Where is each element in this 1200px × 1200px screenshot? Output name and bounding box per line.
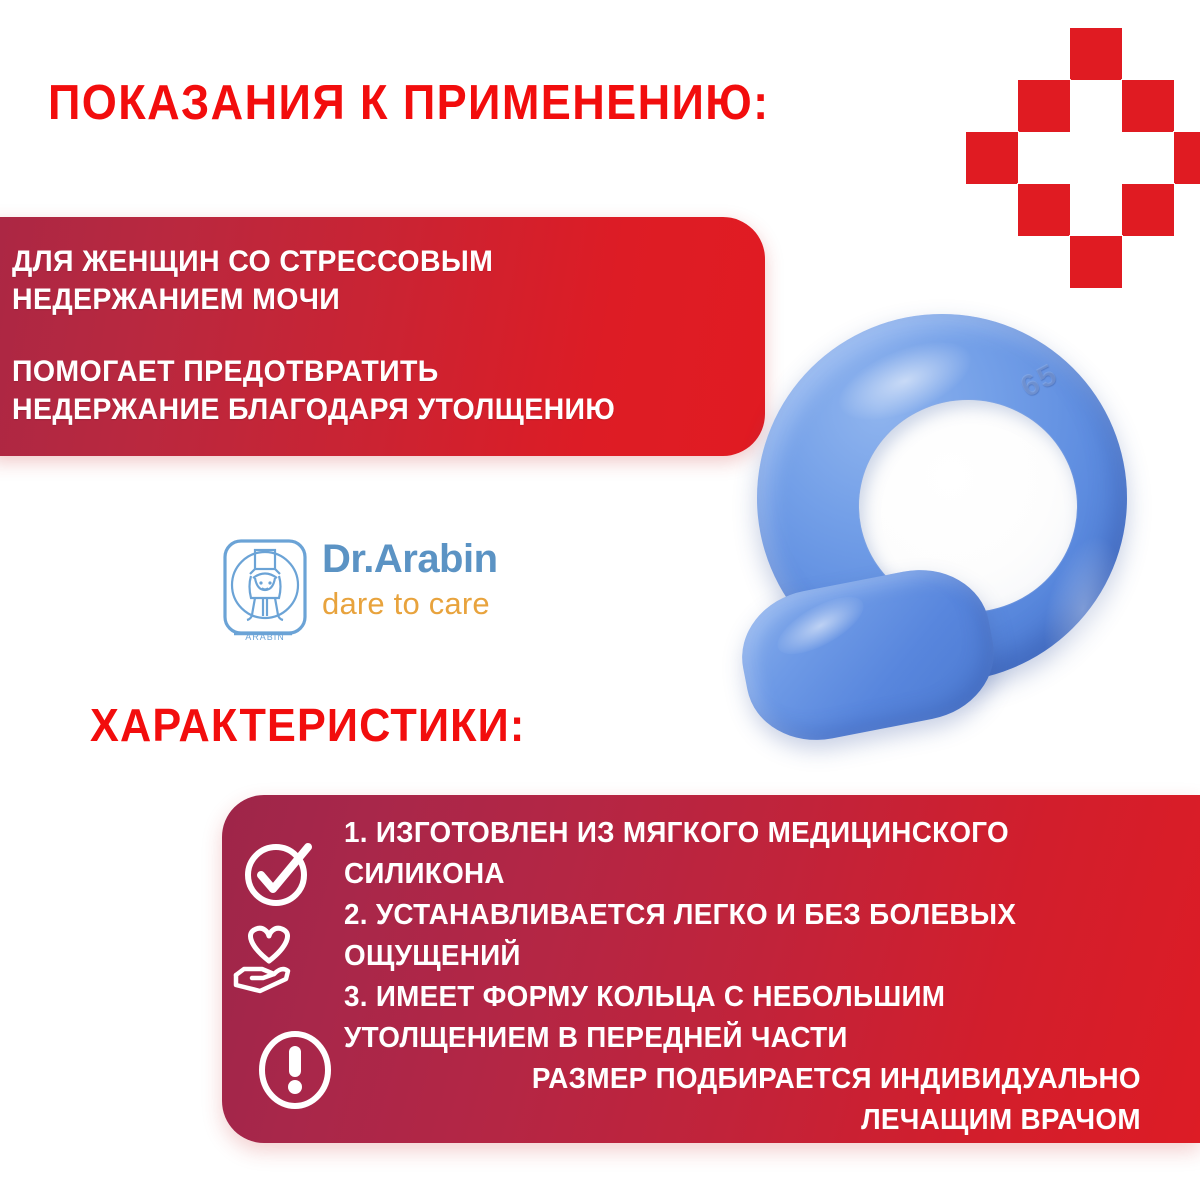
page-title: ПОКАЗАНИЯ К ПРИМЕНЕНИЮ: (48, 79, 770, 128)
poster-root: ПОКАЗАНИЯ К ПРИМЕНЕНИЮ: ДЛЯ ЖЕНЩИН СО СТ… (0, 0, 1200, 1200)
features-panel: 1. ИЗГОТОВЛЕН ИЗ МЯГКОГО МЕДИЦИНСКОГО СИ… (222, 795, 1200, 1143)
feature-line-3: 2. УСТАНАВЛИВАЕТСЯ ЛЕГКО И БЕЗ БОЛЕВЫХ (344, 895, 1150, 936)
cross-square-right (1174, 132, 1200, 184)
medical-cross-icon (1012, 28, 1180, 196)
banner-line-1: ДЛЯ ЖЕНЩИН СО СТРЕССОВЫМ (12, 243, 705, 281)
product-image-ring-pessary: 65 (735, 300, 1155, 780)
size-note-line-2: ЛЕЧАЩИМ ВРАЧОМ (344, 1100, 1141, 1141)
brand-logo: ARABIN Dr.Arabin dare to care (222, 538, 562, 653)
logo-tagline: dare to care (322, 584, 498, 624)
heart-in-hand-icon (230, 923, 308, 1001)
cross-square-lower-left (1018, 184, 1070, 236)
feature-line-1: 1. ИЗГОТОВЛЕН ИЗ МЯГКОГО МЕДИЦИНСКОГО (344, 813, 1150, 854)
cross-square-lower-right (1122, 184, 1174, 236)
cross-square-left (966, 132, 1018, 184)
banner-line-4: НЕДЕРЖАНИЕ БЛАГОДАРЯ УТОЛЩЕНИЮ (12, 391, 705, 429)
features-text-column: 1. ИЗГОТОВЛЕН ИЗ МЯГКОГО МЕДИЦИНСКОГО СИ… (344, 813, 1184, 1141)
size-note-line-1: РАЗМЕР ПОДБИРАЕТСЯ ИНДИВИДУАЛЬНО (344, 1059, 1141, 1100)
svg-text:ARABIN: ARABIN (245, 632, 285, 642)
cross-square-top (1070, 28, 1122, 80)
cross-square-upper-left (1018, 80, 1070, 132)
pessary-size-marking: 65 (1015, 343, 1097, 416)
feature-line-5: 3. ИМЕЕТ ФОРМУ КОЛЬЦА С НЕБОЛЬШИМ (344, 977, 1150, 1018)
pessary-knob-highlight (769, 586, 871, 666)
cross-square-bottom (1070, 236, 1122, 288)
pessary-anterior-knob (731, 558, 1005, 753)
logo-brand-name: Dr.Arabin (322, 536, 498, 582)
feature-line-4: ОЩУЩЕНИЙ (344, 936, 1150, 977)
indications-banner: ДЛЯ ЖЕНЩИН СО СТРЕССОВЫМ НЕДЕРЖАНИЕМ МОЧ… (0, 217, 765, 456)
banner-line-3: ПОМОГАЕТ ПРЕДОТВРАТИТЬ (12, 353, 705, 391)
check-circle-icon (240, 833, 318, 911)
banner-line-2: НЕДЕРЖАНИЕМ МОЧИ (12, 281, 705, 319)
feature-line-2: СИЛИКОНА (344, 854, 1150, 895)
arabin-figure-logo-icon: ARABIN (222, 538, 308, 646)
size-note: РАЗМЕР ПОДБИРАЕТСЯ ИНДИВИДУАЛЬНО ЛЕЧАЩИМ… (344, 1059, 1184, 1141)
banner-spacer (12, 319, 741, 353)
features-heading: ХАРАКТЕРИСТИКИ: (90, 702, 525, 748)
cross-square-upper-right (1122, 80, 1174, 132)
feature-line-6: УТОЛЩЕНИЕМ В ПЕРЕДНЕЙ ЧАСТИ (344, 1018, 1150, 1059)
exclamation-circle-icon (256, 1031, 334, 1109)
